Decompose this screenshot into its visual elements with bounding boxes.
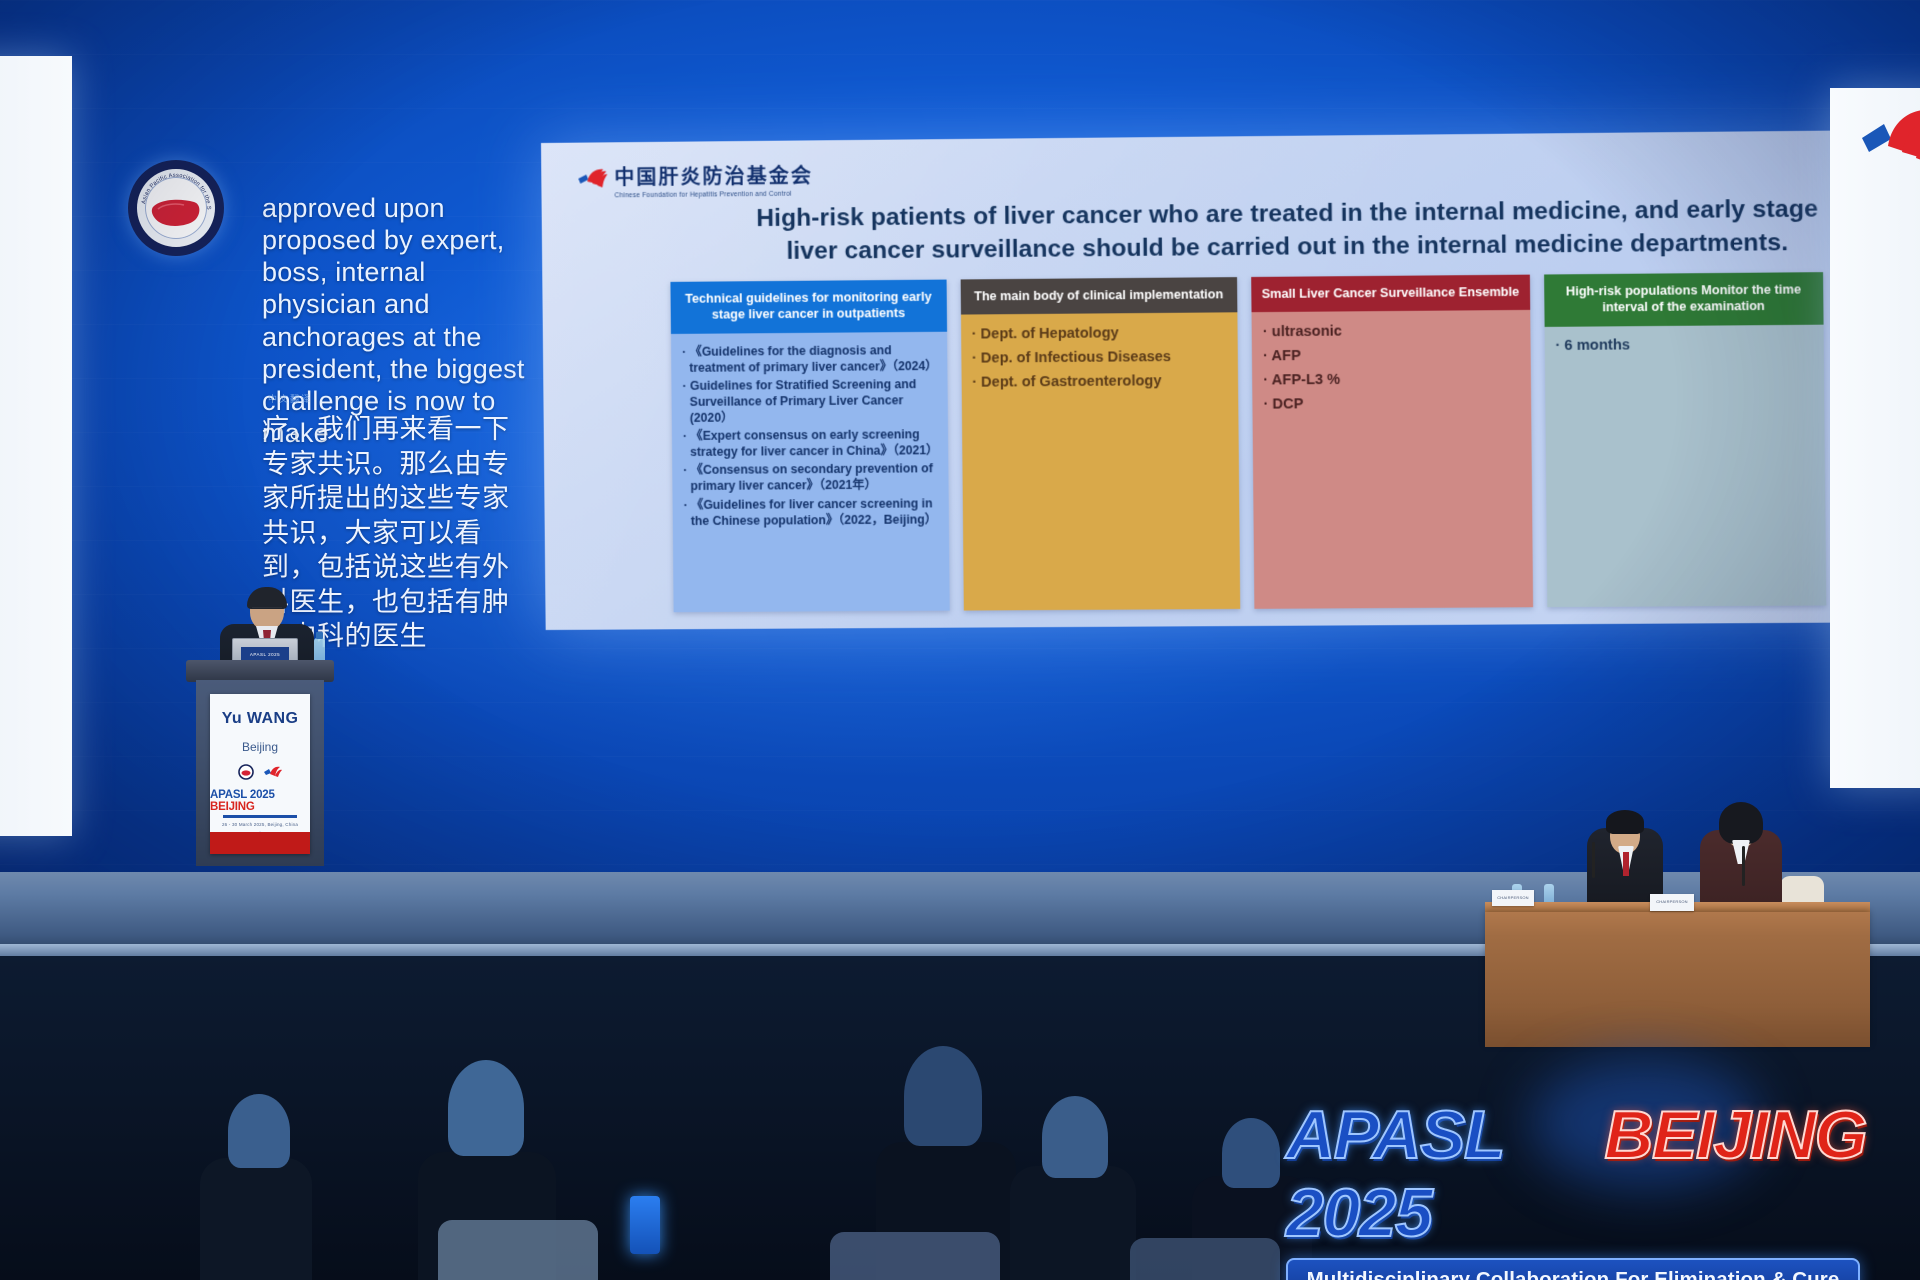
name-card-text: CHAIRPERSON	[1492, 895, 1534, 900]
phone-screen	[630, 1196, 660, 1254]
microphone	[1592, 842, 1595, 878]
audience-member-head	[904, 1046, 982, 1146]
slide-columns: Technical guidelines for monitoring earl…	[670, 272, 1826, 612]
foundation-logo: 中国肝炎防治基金会 Chinese Foundation for Hepatit…	[577, 166, 813, 199]
poster-logo-row	[238, 764, 282, 780]
audience-seat-back	[830, 1232, 1000, 1280]
list-item: 《Guidelines for liver cancer screening i…	[682, 495, 940, 529]
panel-name-card: CHAIRPERSON	[1650, 894, 1694, 911]
list-item: 6 months	[1553, 335, 1814, 356]
audience-member-body	[200, 1158, 312, 1280]
lectern-nameplate-poster: Yu WANG Beijing APASL 2025 BEIJING 26 - …	[210, 694, 310, 854]
slide-column-main-body-clinical: The main body of clinical implementation…	[960, 277, 1240, 610]
microphone	[1742, 846, 1745, 886]
column-body: 《Guidelines for the diagnosis and treatm…	[671, 331, 949, 612]
bottle-cap	[316, 632, 323, 639]
audience-member-head	[1042, 1096, 1108, 1178]
panelist-hair	[1606, 810, 1644, 834]
conference-photo-scene: Asian Pacific Association for the Study …	[0, 0, 1920, 1280]
list-item: 《Guidelines for the diagnosis and treatm…	[680, 342, 938, 376]
caption-line-2: D1193	[0, 832, 62, 852]
name-card-text: CHAIRPERSON	[1650, 899, 1694, 904]
side-left-caption: Pacific D1193	[0, 812, 62, 853]
event-logo-blue-text: APASL 2025	[1286, 1096, 1592, 1252]
event-logo-tagline-pill: Multidisciplinary Collaboration For Elim…	[1286, 1258, 1860, 1280]
poster-event-blue: APASL 2025	[210, 789, 275, 801]
panel-name-card: CHAIRPERSON	[1492, 890, 1534, 906]
audience-seat-back	[438, 1220, 598, 1280]
column-header: High-risk populations Monitor the time i…	[1544, 272, 1824, 327]
audience-member-body	[1010, 1166, 1136, 1280]
event-logo: APASL 2025 BEIJING Multidisciplinary Col…	[1286, 1096, 1866, 1246]
list-item: AFP	[1261, 344, 1521, 368]
apasl-emblem-icon	[238, 764, 254, 780]
speaker-city: Beijing	[242, 740, 278, 754]
audience-member-head	[448, 1060, 524, 1156]
event-logo-tagline: Multidisciplinary Collaboration For Elim…	[1307, 1268, 1840, 1280]
panelist-hair	[1719, 802, 1763, 844]
audience-member-head	[1222, 1118, 1280, 1188]
column-body: ultrasonic AFP AFP-L3 % DCP	[1252, 310, 1533, 609]
column-body: 6 months	[1544, 324, 1826, 607]
poster-footer-band	[210, 832, 310, 854]
slide-title: High-risk patients of liver cancer who a…	[742, 193, 1833, 268]
lectern: APASL 2025 Yu WANG Beijing AP	[186, 660, 334, 870]
speaker-hair	[247, 587, 287, 609]
slide-column-technical-guidelines: Technical guidelines for monitoring earl…	[670, 280, 949, 613]
caption-line-1: Pacific	[0, 812, 62, 832]
column-header: Technical guidelines for monitoring earl…	[670, 280, 946, 334]
foundation-mark-icon	[264, 766, 282, 779]
lectern-top	[186, 660, 334, 682]
laptop-screen-label: APASL 2025	[241, 652, 289, 657]
panel-table	[1485, 912, 1870, 1047]
foundation-mark-icon	[1860, 108, 1920, 170]
list-item: 《Expert consensus on early screening str…	[681, 426, 939, 460]
foundation-mark-icon	[577, 168, 607, 190]
foundation-name-zh: 中国肝炎防治基金会	[614, 166, 813, 188]
list-item: AFP-L3 %	[1261, 368, 1521, 392]
poster-dateline: 26 - 30 March 2025, Beijing, China	[222, 822, 298, 827]
side-screen-right: HBsAg Prevalence (%)	[1830, 88, 1920, 788]
event-logo-red-text: BEIJING	[1604, 1096, 1866, 1174]
list-item: Dept. of Gastroenterology	[970, 371, 1229, 394]
list-item: Dep. of Infectious Diseases	[970, 347, 1229, 370]
list-item: Guidelines for Stratified Screening and …	[680, 376, 938, 426]
foundation-name-en: Chinese Foundation for Hepatitis Prevent…	[615, 190, 814, 199]
poster-event-title: APASL 2025 BEIJING	[210, 789, 310, 813]
column-header: Small Liver Cancer Surveillance Ensemble	[1251, 275, 1530, 313]
panelist-tie	[1623, 852, 1629, 876]
slide-column-monitor-interval: High-risk populations Monitor the time i…	[1544, 272, 1827, 607]
projected-slide: 中国肝炎防治基金会 Chinese Foundation for Hepatit…	[541, 130, 1870, 630]
list-item: 《Consensus on secondary prevention of pr…	[681, 461, 939, 495]
caption-chinese-label: 中文翻译	[268, 392, 312, 405]
caption-english: approved upon proposed by expert, boss, …	[262, 192, 540, 449]
audience-member-head	[228, 1094, 290, 1168]
column-header: The main body of clinical implementation	[960, 277, 1237, 315]
list-item: ultrasonic	[1261, 320, 1521, 344]
list-item: DCP	[1261, 392, 1521, 416]
side-screen-left: ▪▪▪ ▮▮ Pacific D1193	[0, 56, 72, 836]
audience-seat-back	[1130, 1238, 1280, 1280]
speaker-name: Yu WANG	[222, 710, 299, 728]
event-logo-wordmark: APASL 2025 BEIJING	[1286, 1096, 1866, 1252]
slide-column-surveillance-ensemble: Small Liver Cancer Surveillance Ensemble…	[1251, 275, 1532, 609]
svg-text:Asian Pacific Association for: Asian Pacific Association for the Study	[137, 169, 211, 210]
apasl-emblem: Asian Pacific Association for the Study	[128, 160, 224, 256]
list-item: Dept. of Hepatology	[970, 323, 1229, 346]
column-body: Dept. of Hepatology Dep. of Infectious D…	[960, 313, 1240, 611]
eyeglasses-icon	[252, 607, 282, 615]
poster-tagline-bar	[223, 815, 297, 818]
poster-event-red: BEIJING	[210, 801, 255, 813]
emblem-ring-text: Asian Pacific Association for the Study	[137, 169, 215, 247]
